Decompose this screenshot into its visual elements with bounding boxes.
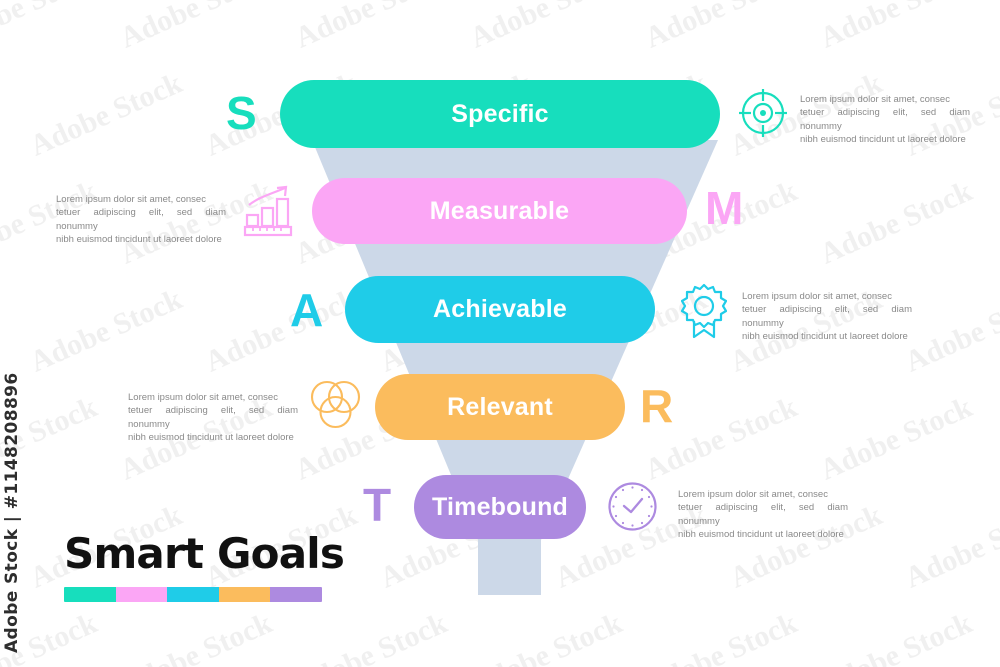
pill-timebound[interactable]: Timebound (414, 475, 586, 539)
desc-line: tetuer adipiscing elit, sed diam nonummy (678, 501, 848, 528)
desc-line: nibh euismod tincidunt ut laoreet dolore (128, 431, 298, 444)
stock-watermark-id: Adobe Stock | #1148208896 (2, 372, 22, 653)
desc-timebound: Lorem ipsum dolor sit amet, consec tetue… (678, 488, 848, 542)
letter-text-m: M (705, 182, 743, 234)
color-segment-achievable (167, 587, 219, 602)
pill-relevant[interactable]: Relevant (375, 374, 625, 440)
desc-line: nibh euismod tincidunt ut laoreet dolore (800, 133, 970, 146)
infographic-canvas: Adobe StockAdobe StockAdobe StockAdobe S… (0, 0, 1000, 667)
desc-line: nibh euismod tincidunt ut laoreet dolore (742, 330, 912, 343)
desc-relevant: Lorem ipsum dolor sit amet, consec tetue… (128, 391, 298, 445)
bar-chart-growth-icon (243, 185, 295, 242)
page-title: Smart Goals (64, 531, 344, 576)
desc-line: nibh euismod tincidunt ut laoreet dolore (56, 233, 226, 246)
pill-label-relevant: Relevant (447, 393, 553, 422)
step-letter-s: S (226, 90, 257, 136)
letter-text-s: S (226, 87, 257, 139)
award-ribbon-icon (681, 283, 727, 344)
letter-text-t: T (363, 479, 391, 531)
desc-measurable: Lorem ipsum dolor sit amet, consec tetue… (56, 193, 226, 247)
pill-specific[interactable]: Specific (280, 80, 720, 148)
letter-text-a: A (290, 284, 323, 336)
desc-line: tetuer adipiscing elit, sed diam nonummy (800, 106, 970, 133)
clock-icon (607, 481, 658, 537)
title-block: Smart Goals (64, 531, 344, 602)
letter-text-r: R (640, 380, 673, 432)
pill-label-timebound: Timebound (432, 493, 568, 522)
venn-diagram-icon (308, 379, 363, 436)
color-segment-measurable (116, 587, 168, 602)
desc-line: Lorem ipsum dolor sit amet, consec (128, 391, 298, 404)
color-segment-relevant (219, 587, 271, 602)
desc-line: tetuer adipiscing elit, sed diam nonummy (128, 404, 298, 431)
target-icon (738, 88, 788, 143)
pill-achievable[interactable]: Achievable (345, 276, 655, 343)
pill-label-achievable: Achievable (433, 295, 567, 324)
color-segment-timebound (270, 587, 322, 602)
step-letter-t: T (363, 482, 391, 528)
desc-line: tetuer adipiscing elit, sed diam nonummy (56, 206, 226, 233)
step-letter-r: R (640, 383, 673, 429)
desc-line: nibh euismod tincidunt ut laoreet dolore (678, 528, 848, 541)
pill-label-specific: Specific (451, 100, 548, 129)
step-letter-m: M (705, 185, 743, 231)
desc-line: Lorem ipsum dolor sit amet, consec (742, 290, 912, 303)
color-segment-specific (64, 587, 116, 602)
desc-line: Lorem ipsum dolor sit amet, consec (56, 193, 226, 206)
desc-specific: Lorem ipsum dolor sit amet, consec tetue… (800, 93, 970, 147)
step-letter-a: A (290, 287, 323, 333)
desc-achievable: Lorem ipsum dolor sit amet, consec tetue… (742, 290, 912, 344)
pill-measurable[interactable]: Measurable (312, 178, 687, 244)
pill-label-measurable: Measurable (430, 197, 570, 226)
desc-line: tetuer adipiscing elit, sed diam nonummy (742, 303, 912, 330)
desc-line: Lorem ipsum dolor sit amet, consec (800, 93, 970, 106)
funnel-stem (478, 530, 541, 595)
color-legend-bar (64, 587, 322, 602)
desc-line: Lorem ipsum dolor sit amet, consec (678, 488, 848, 501)
